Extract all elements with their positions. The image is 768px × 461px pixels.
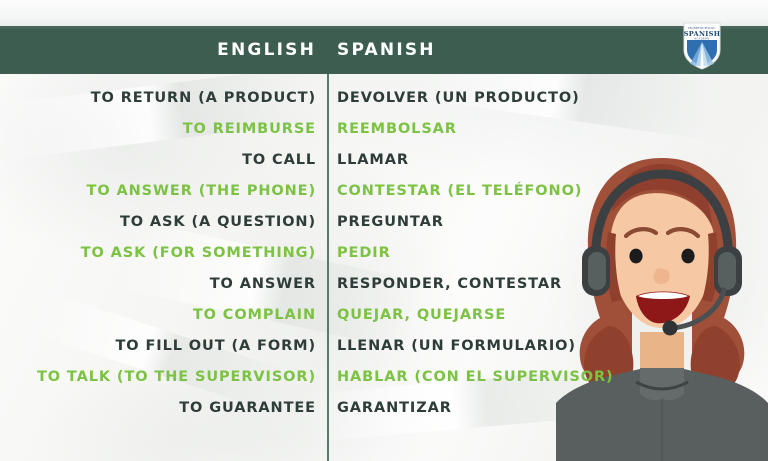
top-white-strip [0, 0, 768, 26]
table-row: TO ANSWER (THE PHONE) CONTESTAR (EL TELÉ… [0, 176, 768, 207]
table-row: TO TALK (TO THE SUPERVISOR) HABLAR (CON … [0, 362, 768, 393]
cell-english: TO GUARANTEE [179, 401, 316, 416]
column-header-english: ENGLISH [217, 40, 316, 60]
cell-english: TO ASK (A QUESTION) [120, 215, 316, 230]
cell-english: TO REIMBURSE [183, 122, 316, 137]
vocabulary-table: TO RETURN (A PRODUCT) DEVOLVER (UN PRODU… [0, 74, 768, 461]
cell-english: TO FILL OUT (A FORM) [116, 339, 316, 354]
svg-text:ACADEMY: ACADEMY [693, 36, 710, 40]
table-row: TO FILL OUT (A FORM) LLENAR (UN FORMULAR… [0, 331, 768, 362]
cell-english: TO COMPLAIN [193, 308, 316, 323]
cell-spanish: PEDIR [337, 246, 391, 261]
table-row: TO ASK (A QUESTION) PREGUNTAR [0, 207, 768, 238]
cell-english: TO CALL [242, 153, 316, 168]
cell-spanish: QUEJAR, QUEJARSE [337, 308, 506, 323]
column-header-spanish: SPANISH [337, 40, 436, 60]
cell-spanish: LLENAR (UN FORMULARIO) [337, 339, 576, 354]
cell-english: TO TALK (TO THE SUPERVISOR) [37, 370, 316, 385]
table-row: TO ANSWER RESPONDER, CONTESTAR [0, 269, 768, 300]
table-row: TO RETURN (A PRODUCT) DEVOLVER (UN PRODU… [0, 83, 768, 114]
infographic-canvas: ENGLISH SPANISH HOMESCHOOL SPANISH ACADE… [0, 0, 768, 461]
table-header-bar: ENGLISH SPANISH [0, 26, 768, 74]
spanish-academy-shield-logo: HOMESCHOOL SPANISH ACADEMY [683, 22, 721, 70]
table-row: TO ASK (FOR SOMETHING) PEDIR [0, 238, 768, 269]
cell-spanish: GARANTIZAR [337, 401, 452, 416]
table-row: TO REIMBURSE REEMBOLSAR [0, 114, 768, 145]
cell-spanish: PREGUNTAR [337, 215, 444, 230]
cell-spanish: LLAMAR [337, 153, 409, 168]
cell-spanish: HABLAR (CON EL SUPERVISOR) [337, 370, 614, 385]
cell-english: TO RETURN (A PRODUCT) [91, 91, 316, 106]
cell-spanish: REEMBOLSAR [337, 122, 457, 137]
cell-spanish: CONTESTAR (EL TELÉFONO) [337, 184, 582, 199]
cell-english: TO ANSWER [210, 277, 316, 292]
table-row: TO GUARANTEE GARANTIZAR [0, 393, 768, 424]
cell-english: TO ANSWER (THE PHONE) [87, 184, 316, 199]
table-row: TO CALL LLAMAR [0, 145, 768, 176]
cell-spanish: RESPONDER, CONTESTAR [337, 277, 562, 292]
cell-spanish: DEVOLVER (UN PRODUCTO) [337, 91, 580, 106]
table-row: TO COMPLAIN QUEJAR, QUEJARSE [0, 300, 768, 331]
cell-english: TO ASK (FOR SOMETHING) [81, 246, 316, 261]
